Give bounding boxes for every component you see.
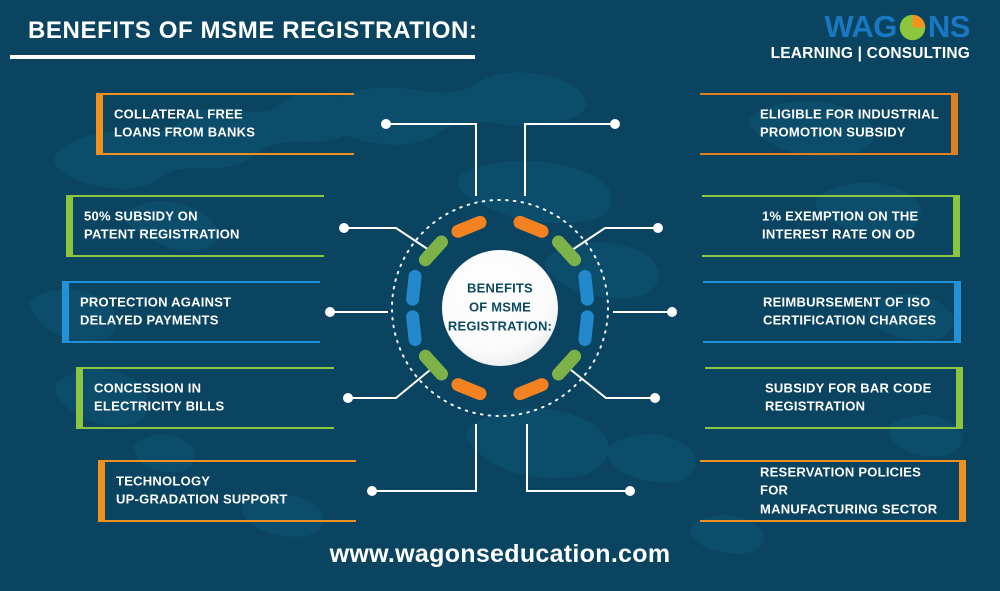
benefit-number-6: 6 — [665, 283, 705, 342]
central-hub: BENEFITS OF MSME REGISTRATION: — [388, 196, 612, 420]
logo-wordmark: WAG NS — [755, 12, 970, 42]
benefit-item-8[interactable]: SUBSIDY FOR BAR CODE REGISTRATION 8 — [705, 367, 963, 429]
benefit-item-3[interactable]: 50% SUBSIDY ON PATENT REGISTRATION 3 — [66, 195, 324, 257]
benefit-number-3: 3 — [320, 197, 360, 256]
benefit-item-10[interactable]: RESERVATION POLICIES FOR MANUFACTURING S… — [700, 460, 966, 522]
benefit-label-2: ELIGIBLE FOR INDUSTRIAL PROMOTION SUBSID… — [760, 106, 942, 143]
benefit-item-6[interactable]: REIMBURSEMENT OF ISO CERTIFICATION CHARG… — [703, 281, 961, 343]
logo-text-part1: WAG — [824, 12, 897, 42]
benefit-label-5: PROTECTION AGAINST DELAYED PAYMENTS — [80, 294, 231, 331]
benefit-item-7[interactable]: CONCESSION IN ELECTRICITY BILLS 7 — [76, 367, 334, 429]
infographic-canvas: BENEFITS OF MSME REGISTRATION: WAG NS LE… — [0, 0, 1000, 591]
logo-text-part2: NS — [928, 12, 970, 42]
benefit-number-7: 7 — [330, 369, 370, 428]
benefit-item-4[interactable]: 1% EXEMPTION ON THE INTEREST RATE ON OD … — [702, 195, 960, 257]
benefit-label-4: 1% EXEMPTION ON THE INTEREST RATE ON OD — [762, 208, 944, 245]
benefit-number-10: 10 — [626, 462, 705, 521]
benefit-number-9: 9 — [352, 462, 392, 521]
benefit-label-1: COLLATERAL FREE LOANS FROM BANKS — [114, 106, 255, 143]
benefit-label-9: TECHNOLOGY UP-GRADATION SUPPORT — [116, 473, 288, 510]
benefit-number-5: 5 — [316, 283, 356, 342]
hub-center-label: BENEFITS OF MSME REGISTRATION: — [435, 280, 565, 337]
pie-chart-o-icon — [898, 13, 927, 42]
benefit-label-6: REIMBURSEMENT OF ISO CERTIFICATION CHARG… — [763, 294, 945, 331]
wagons-logo[interactable]: WAG NS LEARNING | CONSULTING — [755, 12, 970, 64]
benefit-label-10: RESERVATION POLICIES FOR MANUFACTURING S… — [760, 463, 950, 518]
benefit-item-2[interactable]: ELIGIBLE FOR INDUSTRIAL PROMOTION SUBSID… — [700, 93, 958, 155]
benefit-number-2: 2 — [662, 95, 702, 154]
benefit-label-7: CONCESSION IN ELECTRICITY BILLS — [94, 380, 224, 417]
benefit-number-1: 1 — [350, 95, 390, 154]
benefit-label-8: SUBSIDY FOR BAR CODE REGISTRATION — [765, 380, 947, 417]
benefit-label-3: 50% SUBSIDY ON PATENT REGISTRATION — [84, 208, 240, 245]
logo-tagline: LEARNING | CONSULTING — [755, 45, 970, 63]
footer-website-url[interactable]: www.wagonseducation.com — [0, 540, 1000, 569]
page-title: BENEFITS OF MSME REGISTRATION: — [28, 17, 478, 45]
benefit-item-5[interactable]: PROTECTION AGAINST DELAYED PAYMENTS 5 — [62, 281, 320, 343]
header-divider — [10, 55, 475, 59]
benefit-item-1[interactable]: COLLATERAL FREE LOANS FROM BANKS 1 — [96, 93, 354, 155]
benefit-number-8: 8 — [667, 369, 707, 428]
benefit-number-4: 4 — [664, 197, 704, 256]
benefit-item-9[interactable]: TECHNOLOGY UP-GRADATION SUPPORT 9 — [98, 460, 356, 522]
